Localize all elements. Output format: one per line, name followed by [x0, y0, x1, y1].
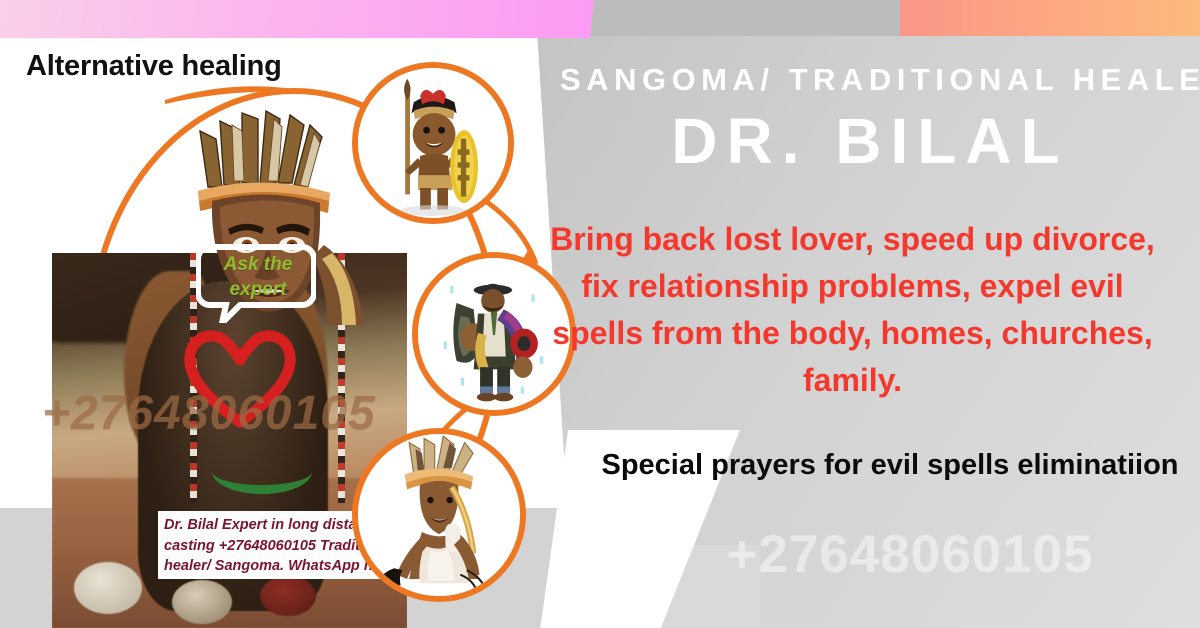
- kicker-headline: SANGOMA/ TRADITIONAL HEALER: [560, 62, 1180, 98]
- healer-name: DR. BILAL: [560, 104, 1180, 178]
- caption-line-3: healer/ Sangoma. WhatsApp n: [164, 556, 397, 577]
- photo-watermark-phone: +27648060105: [42, 386, 376, 441]
- page-title: Alternative healing: [26, 50, 282, 83]
- photo-pot-1: [74, 562, 142, 614]
- poster-canvas: Alternative healing: [0, 0, 1200, 628]
- speech-bubble-text: Ask the expert: [206, 252, 310, 302]
- pink-top-band: [0, 0, 594, 38]
- photo-pot-2: [172, 580, 232, 624]
- right-watermark-phone: +27648060105: [620, 524, 1200, 585]
- photo-pot-3: [260, 576, 316, 616]
- circle-image-zulu-warrior: [352, 62, 514, 224]
- prayers-text: Special prayers for evil spells eliminat…: [600, 443, 1180, 488]
- services-text: Bring back lost lover, speed up divorce,…: [540, 216, 1165, 404]
- zulu-warrior-icon: [358, 68, 508, 218]
- kneeling-sangoma-icon: [358, 434, 520, 596]
- orange-top-band: [900, 0, 1200, 36]
- photo-green-necklace: [212, 449, 312, 494]
- circle-image-kneeling-sangoma: [352, 428, 526, 602]
